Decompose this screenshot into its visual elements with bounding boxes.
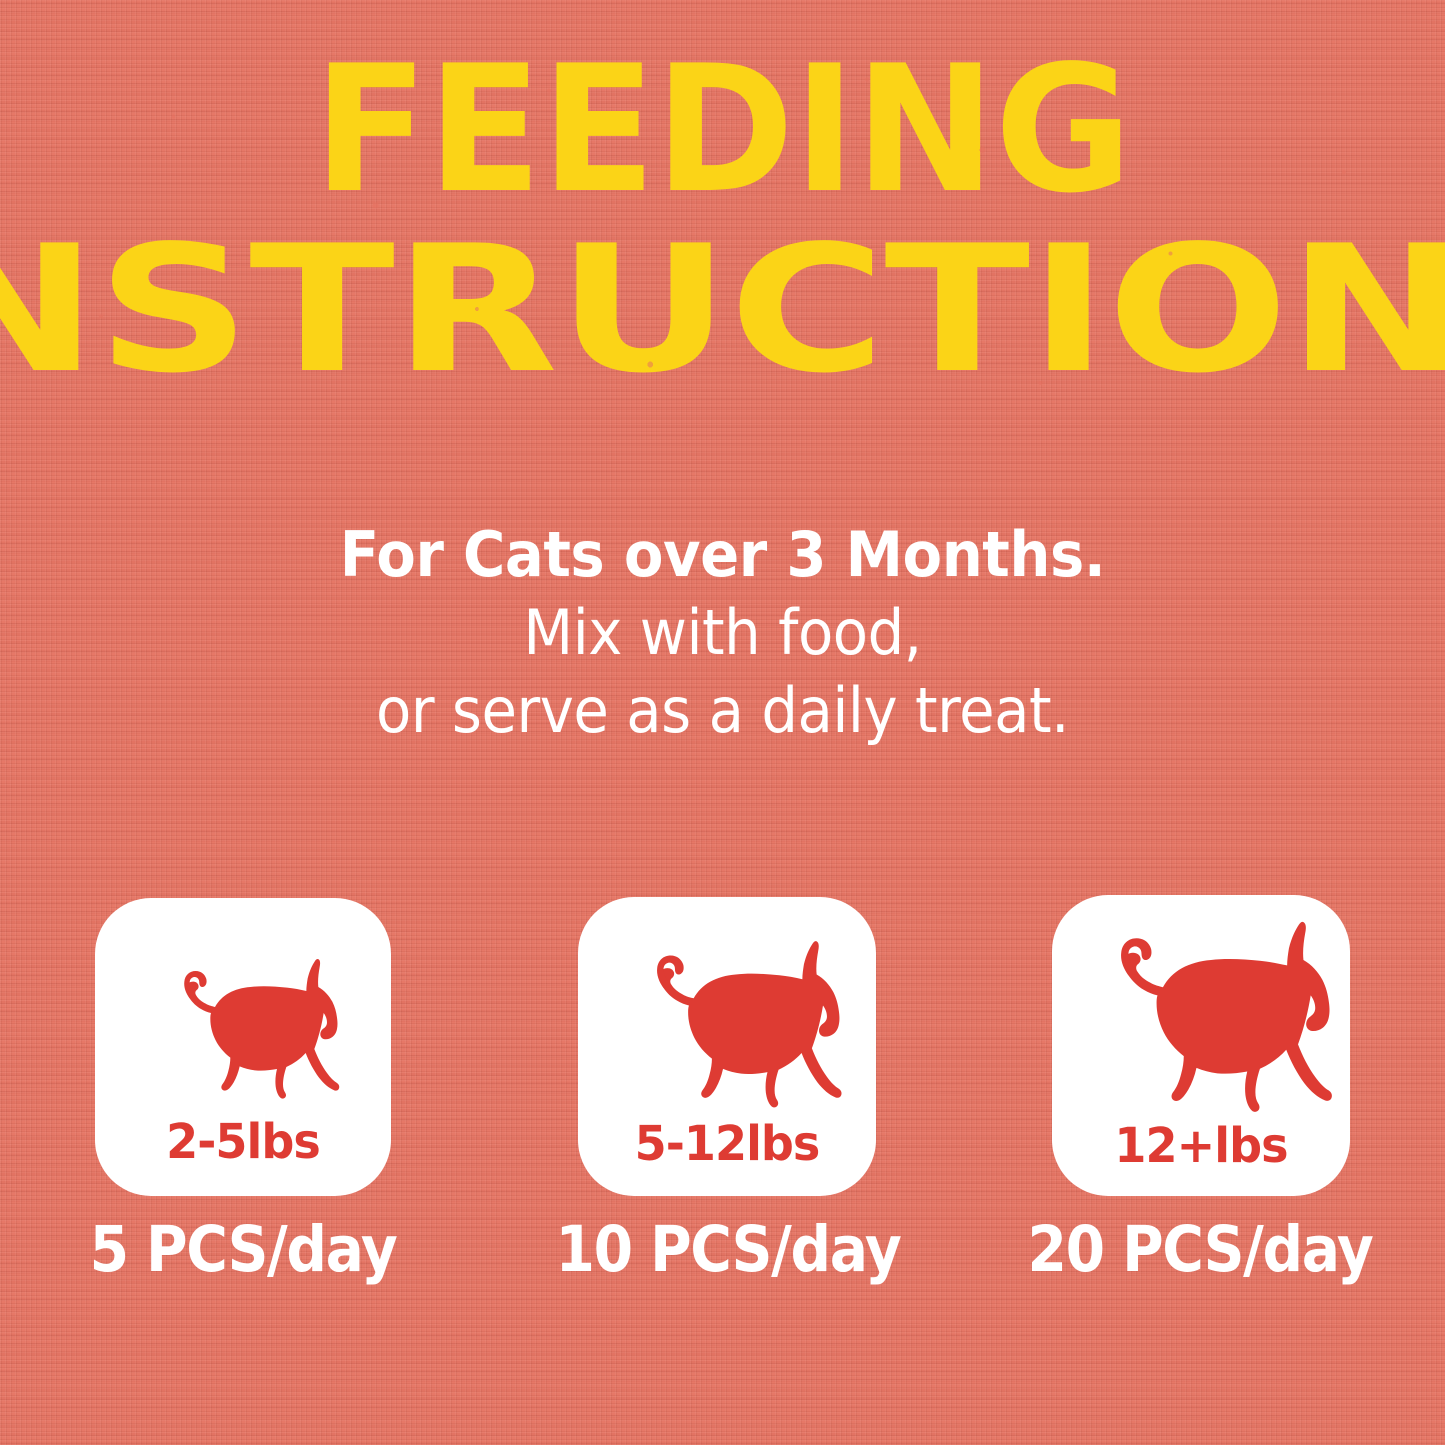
size-card-small: 2-5lbs: [95, 898, 391, 1196]
dose-labels-row: 5 PCS/day 10 PCS/day 20 PCS/day: [0, 1218, 1445, 1308]
dose-label-small: 5 PCS/day: [83, 1218, 403, 1281]
subtitle-line-3: or serve as a daily treat.: [51, 680, 1395, 742]
feeding-size-cards: 2-5lbs 5-12lbs 12+lbs: [0, 895, 1445, 1200]
walking-cat-icon: [1052, 901, 1350, 1119]
weight-label-large: 12+lbs: [1058, 1118, 1344, 1174]
size-card-large: 12+lbs: [1052, 895, 1350, 1196]
size-card-medium: 5-12lbs: [578, 897, 876, 1196]
dose-label-large: 20 PCS/day: [1020, 1218, 1380, 1281]
feeding-instructions-panel: FEEDING INSTRUCTIONS For Cats over 3 Mon…: [0, 0, 1445, 1445]
weight-label-small: 2-5lbs: [101, 1114, 385, 1170]
subtitle-line-1: For Cats over 3 Months.: [51, 524, 1395, 586]
walking-cat-icon: [95, 934, 391, 1104]
dose-label-medium: 10 PCS/day: [548, 1218, 908, 1281]
walking-cat-icon: [578, 917, 876, 1113]
subtitle-line-2: Mix with food,: [51, 602, 1395, 664]
page-title: FEEDING INSTRUCTIONS: [0, 52, 1445, 389]
headline-line-2: INSTRUCTIONS: [0, 232, 1445, 390]
subtitle-block: For Cats over 3 Months. Mix with food, o…: [0, 524, 1445, 742]
weight-label-medium: 5-12lbs: [584, 1116, 870, 1172]
headline-line-1: FEEDING: [29, 52, 1416, 210]
